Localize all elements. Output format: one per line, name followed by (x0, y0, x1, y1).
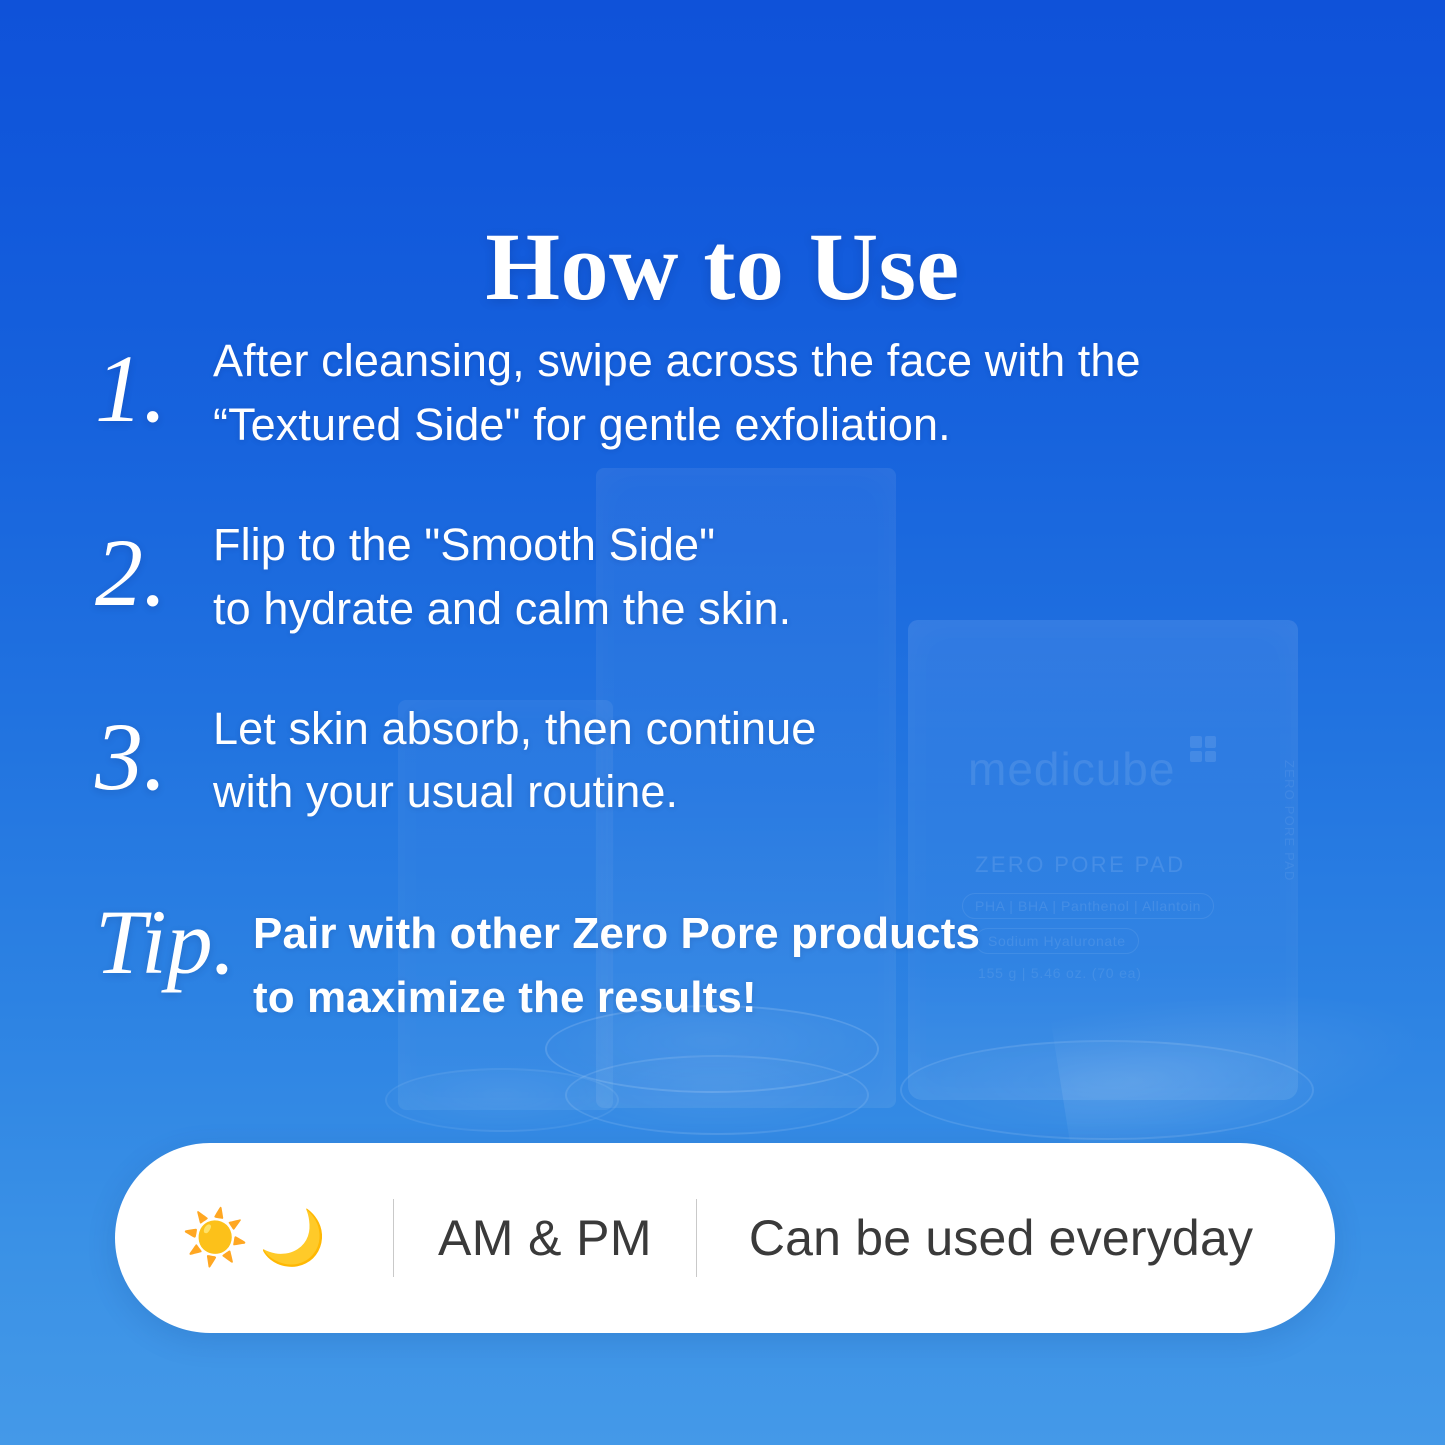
step-text-line: After cleansing, swipe across the face w… (213, 329, 1275, 393)
step-item: 3. Let skin absorb, then continue with y… (95, 693, 1275, 825)
step-text: Flip to the "Smooth Side" to hydrate and… (213, 509, 1275, 641)
step-number: 1. (95, 325, 213, 437)
step-item: 2. Flip to the "Smooth Side" to hydrate … (95, 509, 1275, 641)
step-text-line: Let skin absorb, then continue (213, 697, 1275, 761)
tip-text-line: Pair with other Zero Pore products (253, 902, 1275, 966)
step-text: After cleansing, swipe across the face w… (213, 325, 1275, 457)
how-to-use-page: medicube ZERO PORE PAD PHA | BHA | Panth… (0, 0, 1445, 1445)
background-jar-lid-middle-lower (565, 1055, 869, 1135)
page-title: How to Use (0, 214, 1445, 320)
step-text-line: to hydrate and calm the skin. (213, 577, 1275, 641)
sun-icon: ☀️ (182, 1211, 249, 1265)
steps-list: 1. After cleansing, swipe across the fac… (95, 325, 1275, 1030)
tip-text-line: to maximize the results! (253, 966, 1275, 1030)
step-number: 2. (95, 509, 213, 621)
step-number: 3. (95, 693, 213, 805)
usage-info-bar: ☀️ 🌙 AM & PM Can be used everyday (115, 1143, 1335, 1333)
background-jar-lid-left (385, 1068, 619, 1132)
tip-item: Tip. Pair with other Zero Pore products … (95, 890, 1275, 1030)
step-text-line: “Textured Side" for gentle exfoliation. (213, 393, 1275, 457)
tip-label: Tip. (95, 890, 253, 988)
step-item: 1. After cleansing, swipe across the fac… (95, 325, 1275, 457)
tip-text: Pair with other Zero Pore products to ma… (253, 890, 1275, 1030)
step-text: Let skin absorb, then continue with your… (213, 693, 1275, 825)
background-side-text: ZERO PORE PAD (1282, 760, 1297, 882)
usage-time-label: AM & PM (394, 1209, 696, 1267)
moon-icon: 🌙 (259, 1211, 326, 1265)
step-text-line: Flip to the "Smooth Side" (213, 513, 1275, 577)
background-jar-lid-main (900, 1040, 1314, 1140)
step-text-line: with your usual routine. (213, 760, 1275, 824)
usage-frequency-label: Can be used everyday (697, 1209, 1335, 1267)
usage-icons-group: ☀️ 🌙 (115, 1211, 393, 1265)
